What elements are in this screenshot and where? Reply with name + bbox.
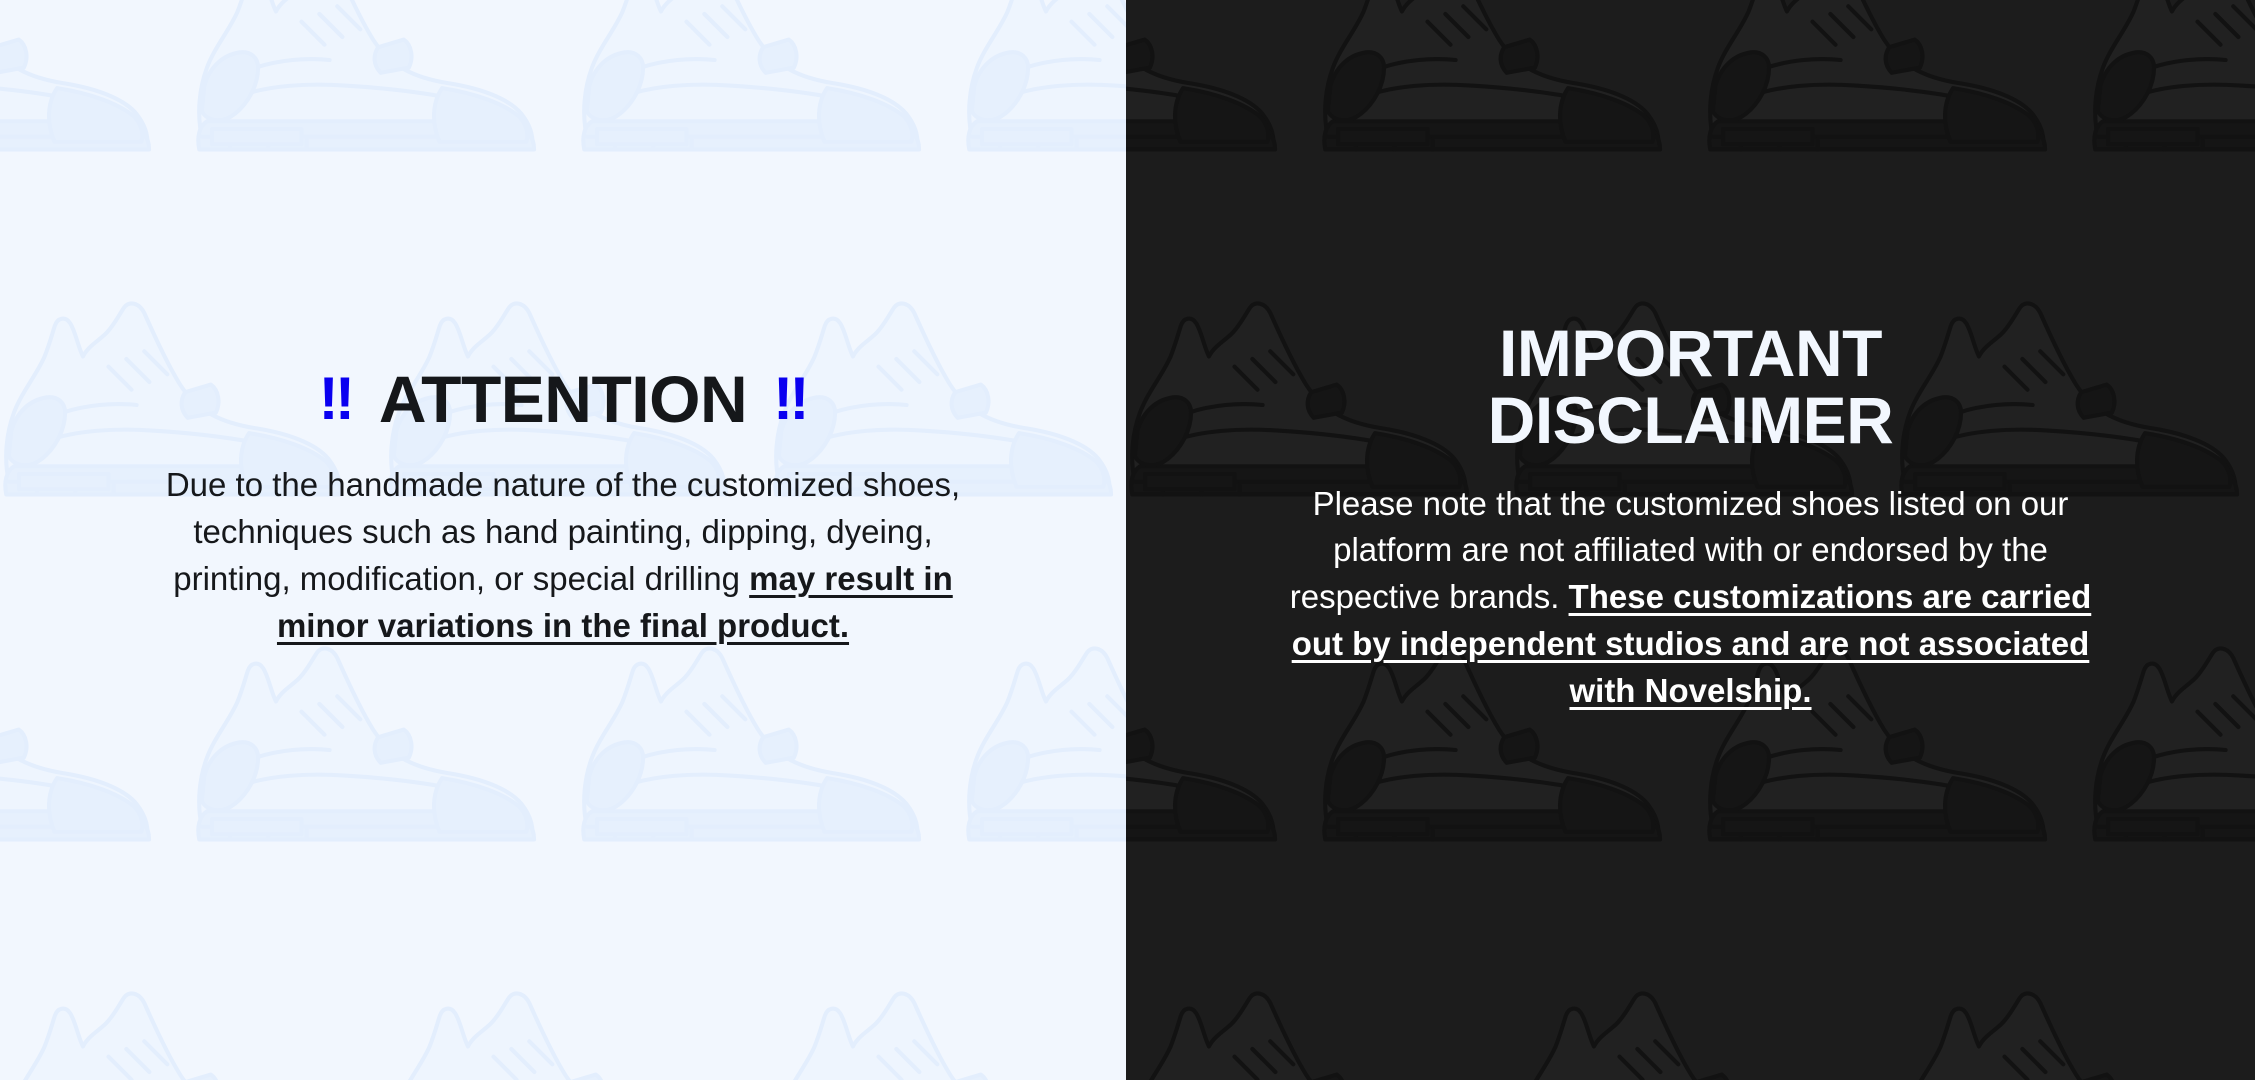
disclaimer-content: IMPORTANT DISCLAIMER Please note that th…: [1126, 0, 2255, 1080]
attention-heading-text: ATTENTION: [379, 366, 747, 432]
disclaimer-heading: IMPORTANT DISCLAIMER: [1488, 320, 1894, 455]
attention-body: Due to the handmade nature of the custom…: [163, 462, 963, 649]
attention-heading: ‼ ATTENTION ‼: [319, 366, 808, 432]
disclaimer-heading-line-1: IMPORTANT: [1499, 316, 1882, 390]
attention-panel: ‼ ATTENTION ‼ Due to the handmade nature…: [0, 0, 1126, 1080]
promo-banner: ‼ ATTENTION ‼ Due to the handmade nature…: [0, 0, 2255, 1080]
disclaimer-body: Please note that the customized shoes li…: [1281, 481, 2101, 715]
disclaimer-heading-line-2: DISCLAIMER: [1488, 383, 1894, 457]
double-exclamation-icon-right: ‼: [773, 369, 807, 429]
disclaimer-panel: IMPORTANT DISCLAIMER Please note that th…: [1126, 0, 2255, 1080]
attention-content: ‼ ATTENTION ‼ Due to the handmade nature…: [0, 0, 1126, 1080]
double-exclamation-icon-left: ‼: [319, 369, 353, 429]
